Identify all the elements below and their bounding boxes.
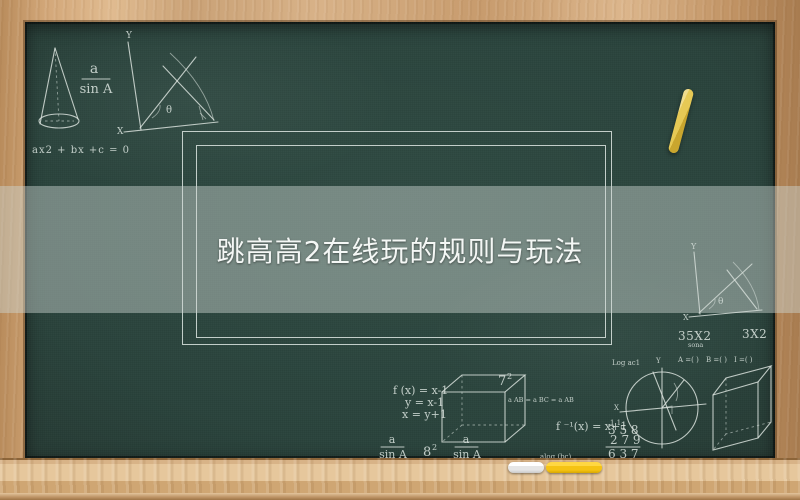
chalk-ledge bbox=[0, 458, 800, 500]
white-chalk-icon bbox=[508, 462, 544, 473]
title-band: 跳高高2在线玩的规则与玩法 bbox=[0, 186, 800, 313]
ledge-front-lip bbox=[0, 493, 800, 500]
screenshot-root: a sin A ax2 + bx +c = 0 Y X θ bbox=[0, 0, 800, 500]
yellow-chalk-icon bbox=[546, 462, 602, 473]
page-title: 跳高高2在线玩的规则与玩法 bbox=[217, 230, 584, 270]
